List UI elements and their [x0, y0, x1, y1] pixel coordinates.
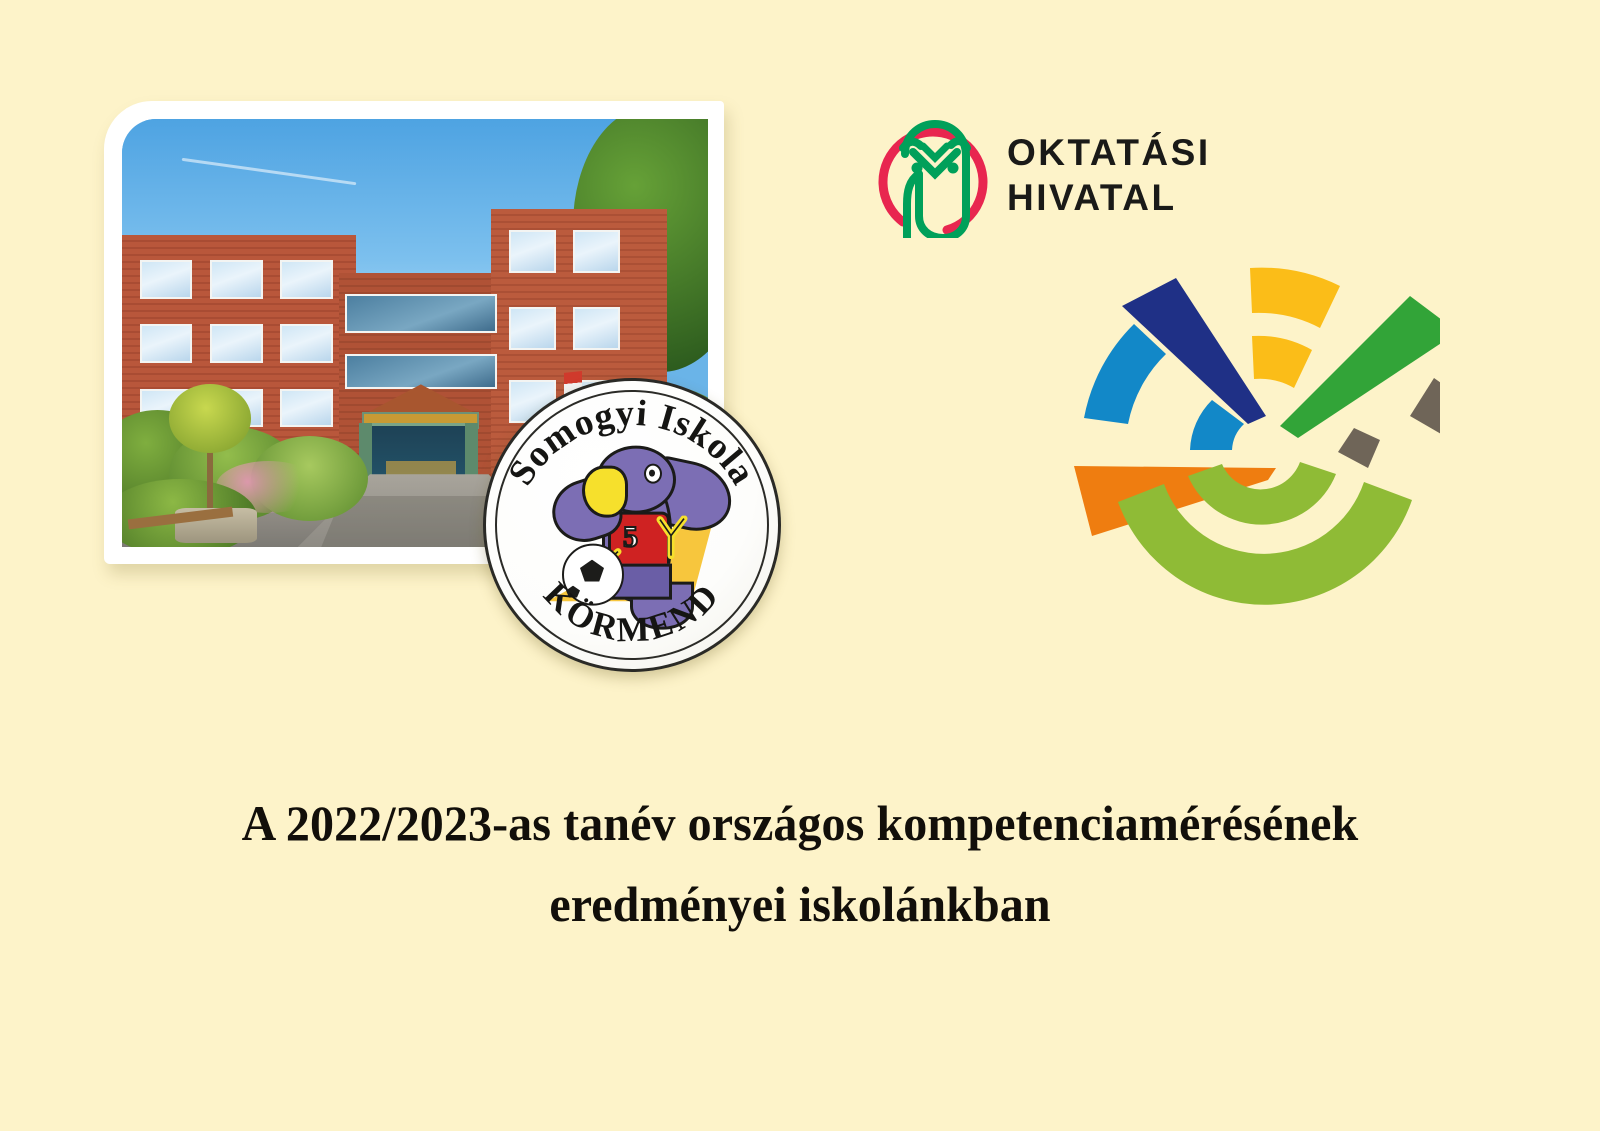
badge-bottom-text: KÖRMEND — [536, 575, 727, 650]
window — [280, 260, 333, 299]
window — [210, 260, 263, 299]
window — [140, 324, 193, 363]
somogyi-iskola-badge: 5 — [483, 378, 781, 672]
window — [140, 260, 193, 299]
sapling-foliage — [169, 384, 251, 452]
oktatasi-hivatal-logo: OKTATÁSI HIVATAL — [869, 112, 1199, 238]
kompetenciameres-fan-logo — [1040, 250, 1440, 635]
title-line-2: eredményei iskolánkban — [32, 864, 1568, 945]
svg-text:KÖRMEND: KÖRMEND — [536, 575, 727, 650]
presentation-slide: 5 — [0, 0, 1600, 1131]
blue-outer-arc — [1084, 324, 1166, 424]
window — [210, 324, 263, 363]
svg-text:Somogyi Iskola: Somogyi Iskola — [501, 393, 764, 493]
slide-title: A 2022/2023-as tanév országos kompetenci… — [32, 783, 1568, 945]
yellow-outer-arc — [1250, 268, 1340, 328]
title-line-1: A 2022/2023-as tanév országos kompetenci… — [32, 783, 1568, 864]
badge-top-text: Somogyi Iskola — [501, 393, 764, 493]
owl-icon — [869, 112, 991, 238]
oh-line-2: HIVATAL — [1007, 175, 1211, 220]
oh-line-1: OKTATÁSI — [1007, 130, 1211, 175]
yellow-inner-arc — [1252, 336, 1312, 388]
window — [280, 389, 333, 428]
gray-inner-dash — [1338, 428, 1380, 468]
window — [573, 230, 620, 273]
window — [280, 324, 333, 363]
gray-outer-dash — [1410, 378, 1440, 438]
window — [509, 307, 556, 350]
badge-curved-text: Somogyi Iskola KÖRMEND — [486, 381, 778, 669]
oktatasi-hivatal-wordmark: OKTATÁSI HIVATAL — [1007, 130, 1211, 220]
window — [509, 230, 556, 273]
window-band — [345, 294, 497, 333]
window — [573, 307, 620, 350]
window-band — [345, 354, 497, 388]
